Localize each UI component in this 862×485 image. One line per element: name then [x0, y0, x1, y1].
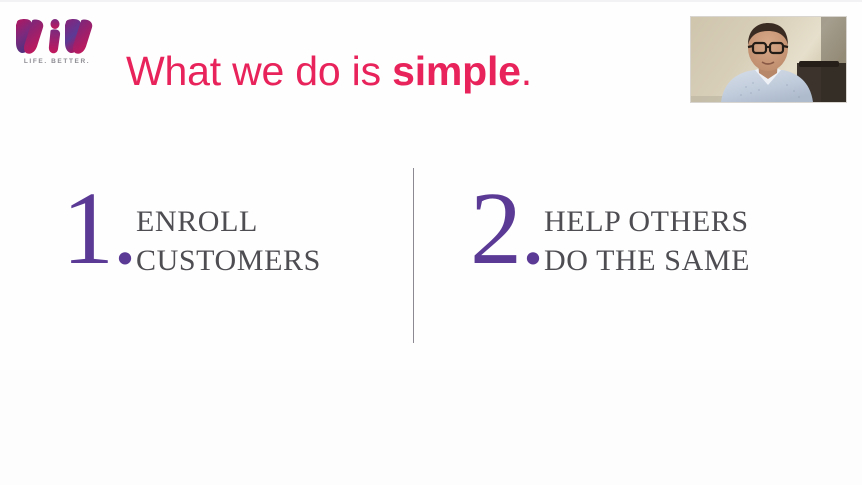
- steps-container: 1. ENROLL CUSTOMERS 2. HELP OTHERS DO TH…: [0, 150, 862, 360]
- slide-footer-area: [0, 370, 862, 485]
- title-lead: What we do is: [126, 48, 392, 94]
- step-label-2-line-2: DO THE SAME: [544, 241, 750, 280]
- viv-logo: LIFE. BETTER.: [16, 18, 104, 76]
- presenter-video-image: [691, 17, 846, 102]
- logo-tagline: LIFE. BETTER.: [16, 58, 98, 65]
- title-emphasis: simple: [392, 48, 521, 94]
- step-item-2: 2. HELP OTHERS DO THE SAME: [470, 198, 750, 280]
- step-label-1-line-1: ENROLL: [136, 202, 321, 241]
- step-item-1: 1. ENROLL CUSTOMERS: [62, 198, 321, 280]
- step-number-2: 2.: [470, 186, 544, 272]
- title-trail: .: [521, 48, 532, 94]
- viv-wordmark-icon: [16, 18, 98, 54]
- column-divider: [413, 168, 414, 343]
- step-number-1: 1.: [62, 186, 136, 272]
- presentation-slide: LIFE. BETTER. What we do is simple.: [0, 0, 862, 485]
- step-label-1-line-2: CUSTOMERS: [136, 241, 321, 280]
- step-label-1: ENROLL CUSTOMERS: [136, 198, 321, 280]
- page-title: What we do is simple.: [126, 45, 532, 97]
- top-hairline-divider: [0, 0, 862, 2]
- step-label-2-line-1: HELP OTHERS: [544, 202, 750, 241]
- presenter-video-feed[interactable]: [690, 16, 847, 103]
- step-label-2: HELP OTHERS DO THE SAME: [544, 198, 750, 280]
